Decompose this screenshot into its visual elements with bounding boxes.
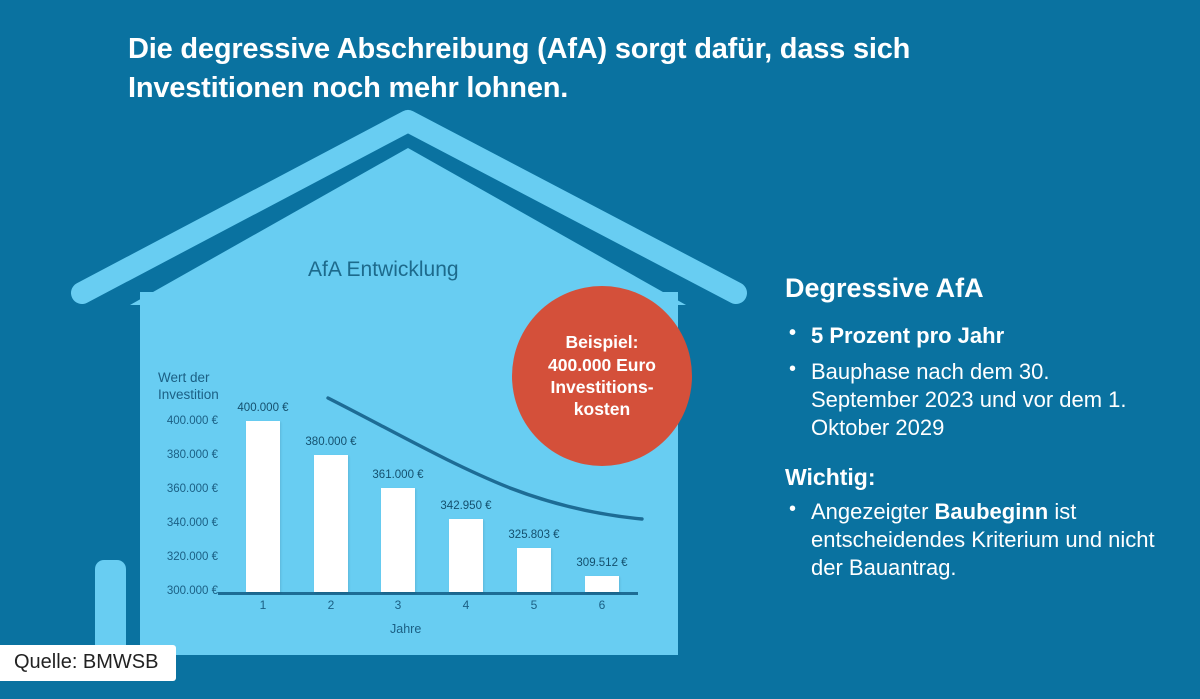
bar-year-6 (585, 576, 619, 592)
panel-subheading: Wichtig: (785, 464, 1160, 492)
x-tick-label: 4 (436, 598, 496, 612)
page-title: Die degressive Abschreibung (AfA) sorgt … (128, 30, 1028, 108)
chart-title: AfA Entwicklung (308, 258, 459, 282)
callout-text: Beispiel: 400.000 Euro Investitions- kos… (548, 331, 656, 421)
bullet-baubeginn: Angezeigter Baubeginn ist entscheidendes… (785, 498, 1160, 582)
y-tick-label: 340.000 € (144, 517, 218, 529)
house-pillar (95, 560, 126, 655)
bullet-baubeginn-pre: Angezeigter (811, 499, 935, 524)
y-tick-label: 380.000 € (144, 449, 218, 461)
panel-important-list: Angezeigter Baubeginn ist entscheidendes… (785, 498, 1160, 582)
infographic-canvas: Die degressive Abschreibung (AfA) sorgt … (0, 0, 1200, 699)
x-tick-label: 1 (233, 598, 293, 612)
source-attribution: Quelle: BMWSB (0, 645, 176, 681)
bar-year-1 (246, 421, 280, 592)
callout-line-1: Beispiel: (548, 331, 656, 353)
x-tick-label: 2 (301, 598, 361, 612)
x-tick-label: 6 (572, 598, 632, 612)
y-axis-title: Wert der Investition (158, 370, 248, 404)
callout-line-3: Investitions- (548, 376, 656, 398)
bullet-period: Bauphase nach dem 30. September 2023 und… (785, 358, 1160, 442)
floor-band (0, 655, 1200, 699)
callout-line-2: 400.000 Euro (548, 354, 656, 376)
bar-value-label: 309.512 € (547, 557, 657, 569)
bar-year-5 (517, 548, 551, 592)
bar-value-label: 325.803 € (479, 529, 589, 541)
y-tick-label: 400.000 € (144, 415, 218, 427)
x-tick-label: 5 (504, 598, 564, 612)
example-callout-circle: Beispiel: 400.000 Euro Investitions- kos… (512, 286, 692, 466)
y-tick-label: 360.000 € (144, 483, 218, 495)
y-tick-label: 300.000 € (144, 585, 218, 597)
callout-line-4: kosten (548, 398, 656, 420)
x-tick-label: 3 (368, 598, 428, 612)
y-tick-label: 320.000 € (144, 551, 218, 563)
info-panel: Degressive AfA 5 Prozent pro Jahr Baupha… (785, 272, 1160, 589)
bullet-baubeginn-emphasis: Baubeginn (935, 499, 1049, 524)
panel-bullet-list: 5 Prozent pro Jahr Bauphase nach dem 30.… (785, 322, 1160, 442)
chart-baseline (218, 592, 638, 595)
panel-heading: Degressive AfA (785, 272, 1160, 304)
x-axis-title: Jahre (390, 622, 421, 636)
bullet-rate: 5 Prozent pro Jahr (785, 322, 1160, 350)
